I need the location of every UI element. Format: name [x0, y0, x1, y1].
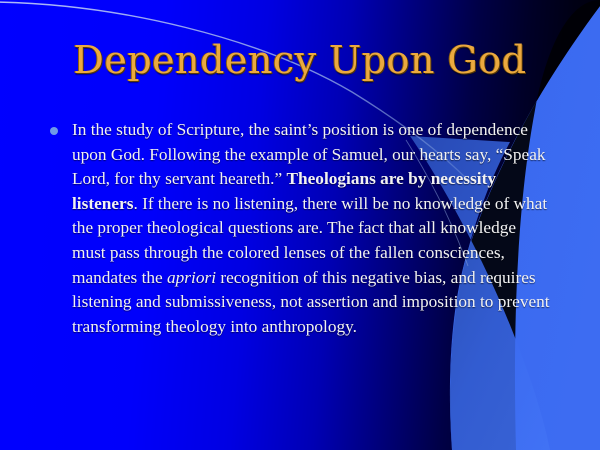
text-run-italic: apriori: [167, 268, 216, 287]
bullet-paragraph: In the study of Scripture, the saint’s p…: [72, 118, 550, 339]
slide-body: In the study of Scripture, the saint’s p…: [46, 118, 550, 339]
bullet-list-item: In the study of Scripture, the saint’s p…: [46, 118, 550, 339]
filled-circle-icon: [50, 127, 58, 135]
slide-title: Dependency Upon God: [0, 40, 600, 82]
presentation-slide: Dependency Upon God In the study of Scri…: [0, 0, 600, 450]
